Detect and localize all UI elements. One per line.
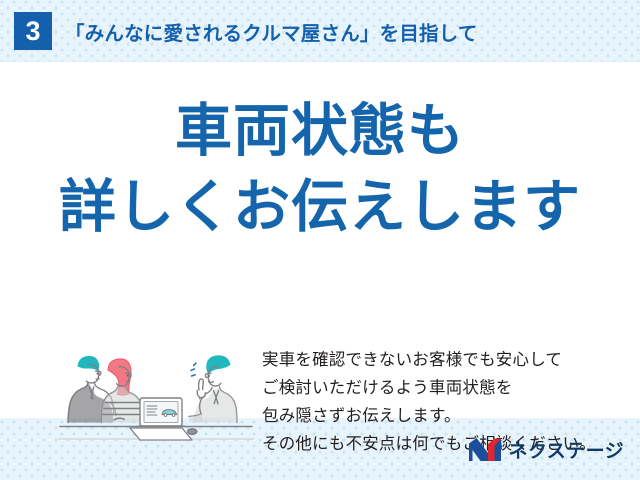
nextage-n-logo-icon [468, 437, 502, 462]
emphasis-marks [191, 363, 196, 376]
slide-header: 3 「みんなに愛されるクルマ屋さん」を目指して [0, 0, 640, 62]
body-copy-line-2: ご検討いただけるよう車両状態を [262, 374, 612, 402]
headline: 車両状態も 詳しくお伝えします [0, 94, 640, 246]
content-panel: 車両状態も 詳しくお伝えします 実車を確認できないお客様でも安心して ご検討いた… [0, 62, 640, 418]
nextage-logo: ネクステージ [468, 436, 624, 463]
header-title: 「みんなに愛されるクルマ屋さん」を目指して [65, 17, 478, 46]
sales-staff-figure [189, 356, 237, 423]
promo-slide: 3 「みんなに愛されるクルマ屋さん」を目指して 車両状態も 詳しくお伝えします … [0, 0, 640, 480]
headline-line-1: 車両状態も [0, 94, 640, 170]
slide-footer: ネクステージ [0, 418, 640, 480]
female-customer-figure [102, 359, 143, 423]
body-copy-line-1: 実車を確認できないお客様でも安心して [262, 346, 612, 374]
section-number-badge: 3 [14, 12, 52, 50]
nextage-logo-text: ネクステージ [509, 436, 624, 463]
headline-line-2: 詳しくお伝えします [0, 170, 640, 246]
